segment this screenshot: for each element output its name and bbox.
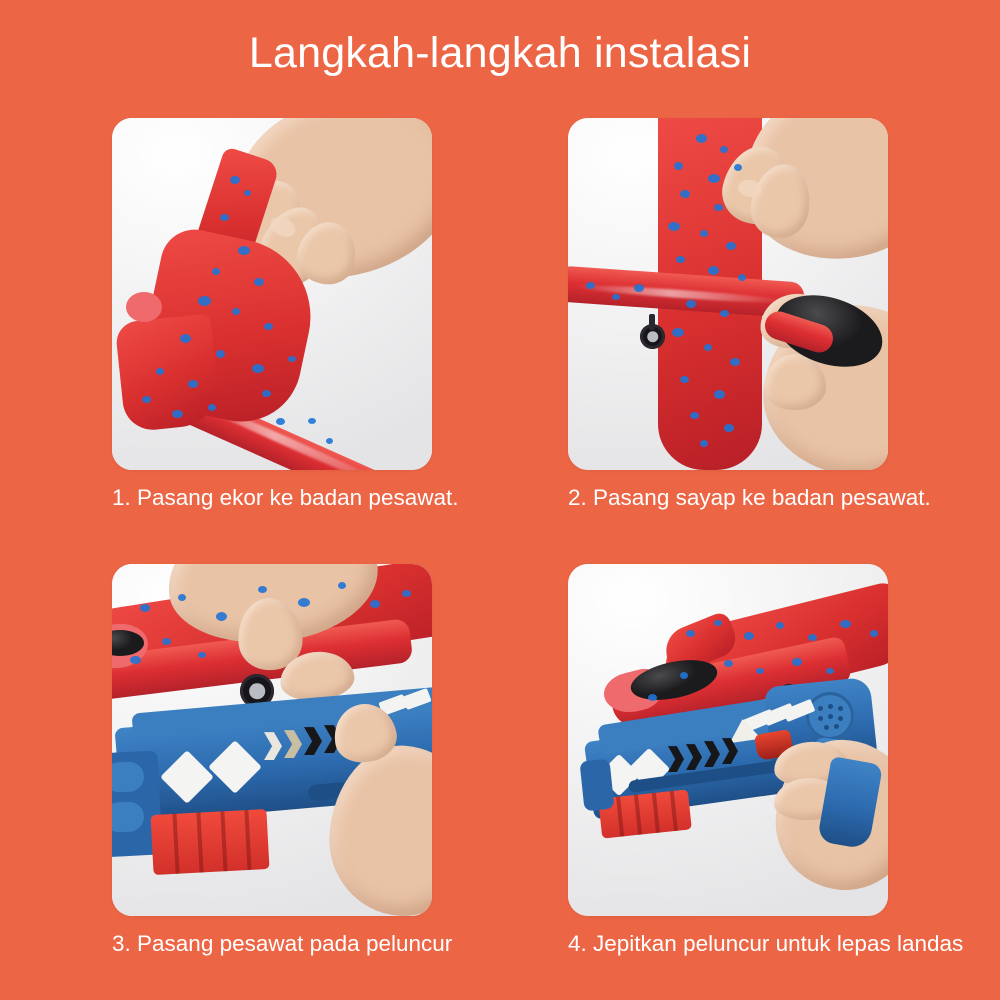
step-4-caption: 4. Jepitkan peluncur untuk lepas landas	[568, 930, 888, 958]
wing-assembly-illustration	[568, 118, 888, 470]
plane-tail-left-tip	[115, 313, 222, 432]
step-4: 4. Jepitkan peluncur untuk lepas landas	[568, 564, 888, 958]
step-2: 2. Pasang sayap ke badan pesawat.	[568, 118, 888, 512]
step-1-photo	[112, 118, 432, 470]
step-3: 3. Pasang pesawat pada peluncur	[112, 564, 432, 958]
step-1: 1. Pasang ekor ke badan pesawat.	[112, 118, 432, 512]
launcher-mount-illustration	[112, 564, 432, 916]
launcher-red-grip	[151, 809, 270, 875]
step-3-photo	[112, 564, 432, 916]
tail-assembly-illustration	[112, 118, 432, 470]
step-2-photo	[568, 118, 888, 470]
step-1-caption: 1. Pasang ekor ke badan pesawat.	[112, 484, 432, 512]
page-title: Langkah-langkah instalasi	[0, 28, 1000, 80]
steps-grid: 1. Pasang ekor ke badan pesawat.	[112, 118, 888, 958]
step-4-photo	[568, 564, 888, 916]
installation-steps-page: Langkah-langkah instalasi	[0, 0, 1000, 1000]
plane-nose-cap	[126, 292, 162, 322]
launch-ready-illustration	[568, 564, 888, 916]
step-2-caption: 2. Pasang sayap ke badan pesawat.	[568, 484, 888, 512]
step-3-caption: 3. Pasang pesawat pada peluncur	[112, 930, 432, 958]
launcher-muzzle	[579, 759, 614, 812]
